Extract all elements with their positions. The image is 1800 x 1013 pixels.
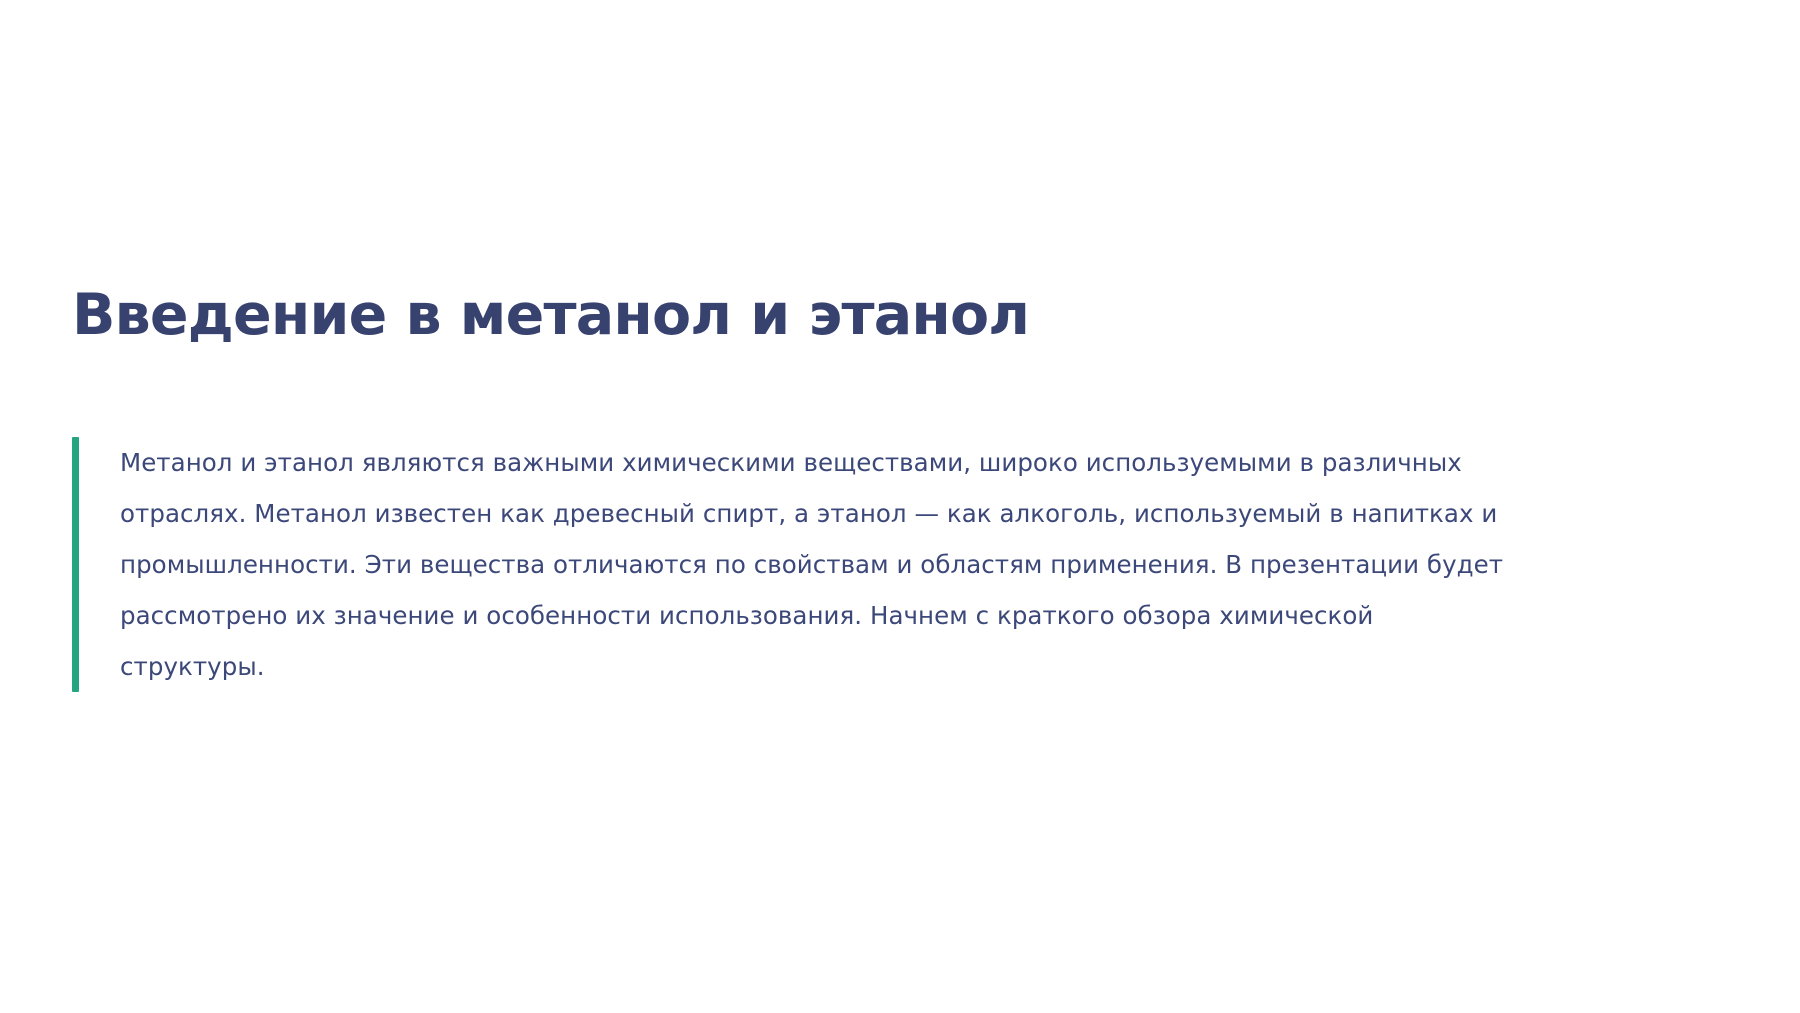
- accent-bar: [72, 437, 79, 692]
- page-title: Введение в метанол и этанол: [72, 280, 1692, 350]
- presentation-slide: Введение в метанол и этанол Метанол и эт…: [0, 0, 1800, 1013]
- body-paragraph: Метанол и этанол являются важными химиче…: [79, 437, 1512, 692]
- body-content-block: Метанол и этанол являются важными химиче…: [72, 437, 1512, 692]
